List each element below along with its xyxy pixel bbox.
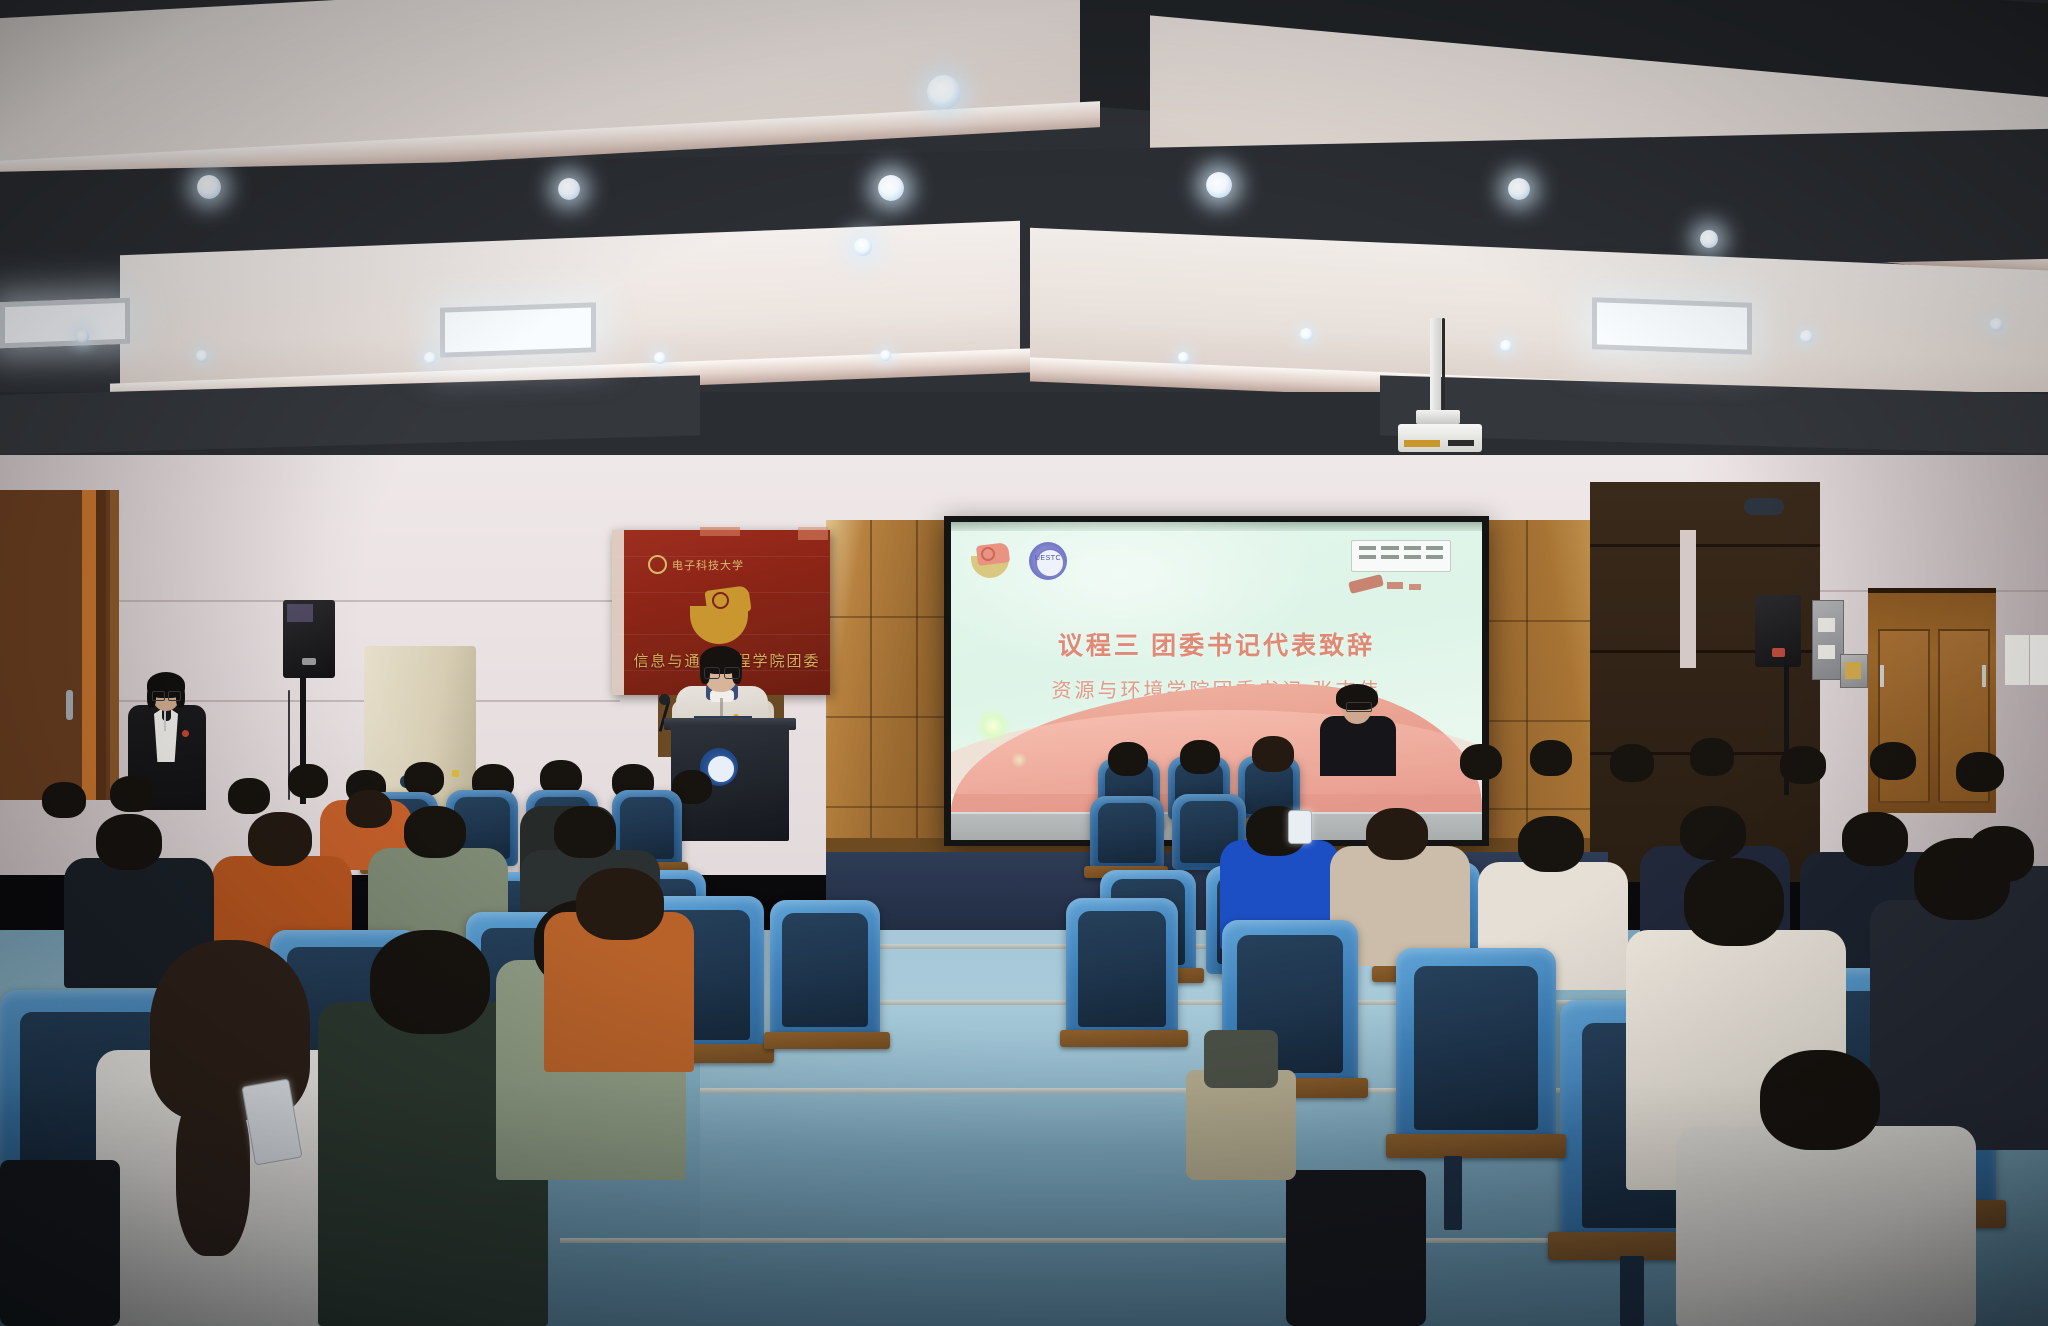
projector-lens-flare	[975, 708, 1011, 744]
audience-head	[42, 782, 86, 818]
loudspeaker-right-logo	[1772, 648, 1785, 657]
banner-university-name: 电子科技大学	[672, 557, 744, 573]
banner-tape	[700, 527, 740, 536]
loudspeaker-left-highlight	[287, 604, 313, 622]
downlight	[1990, 318, 2003, 331]
door-handle[interactable]	[1880, 665, 1884, 687]
audience-head	[1956, 752, 2004, 792]
air-conditioner-sticker	[452, 770, 459, 777]
audience-body	[1320, 716, 1396, 776]
staff-glasses-lens	[152, 691, 165, 701]
slide-decoration	[1387, 582, 1403, 589]
audience-head	[96, 814, 162, 870]
stage-wood-panel-right	[1480, 520, 1608, 850]
audience-head	[288, 764, 328, 798]
audience-head	[554, 806, 616, 858]
presenter-glasses-lens	[704, 667, 720, 679]
downlight	[558, 178, 580, 200]
banner-edge-strip	[612, 530, 624, 695]
audience-head	[1366, 808, 1428, 860]
audience-head	[1690, 738, 1734, 776]
notice-paper	[2030, 635, 2048, 685]
wall-thermostat[interactable]	[1744, 498, 1784, 515]
audience-head	[1780, 746, 1826, 784]
projector-cable	[1442, 318, 1445, 414]
backpack	[0, 1160, 120, 1326]
audience-head	[1518, 816, 1584, 872]
stage-wood-panel-left	[826, 520, 948, 850]
audience-head	[1760, 1050, 1880, 1150]
seat[interactable]	[770, 900, 880, 1040]
banner-university-mark: 电子科技大学	[648, 555, 778, 571]
electrical-panel-label	[1818, 618, 1835, 632]
slide-decoration	[1348, 574, 1384, 594]
window-mullion	[82, 490, 96, 800]
audience-head	[248, 812, 312, 866]
staff-glasses-lens	[168, 691, 181, 701]
audience-head	[1108, 742, 1148, 776]
auditorium-photo: 电子科技大学 信息与通信工程学院团委 UESTC	[0, 0, 2048, 1326]
banner-tape	[798, 527, 828, 540]
downlight	[654, 352, 666, 364]
seat[interactable]	[1066, 898, 1178, 1040]
downlight	[878, 175, 904, 201]
audience-head	[1680, 806, 1746, 860]
projector-lens-flare	[1011, 752, 1027, 768]
downlight	[1206, 172, 1232, 198]
projector-label	[1404, 440, 1440, 447]
audience-head	[1842, 812, 1908, 866]
seat[interactable]	[1396, 948, 1556, 1148]
downlight	[1500, 340, 1512, 352]
uestc-emblem-label: UESTC	[1029, 555, 1067, 562]
panel-light	[0, 298, 130, 349]
audience-head	[228, 778, 270, 814]
audience-head	[1914, 838, 2010, 920]
armrest	[1386, 1134, 1566, 1158]
notice-paper	[2005, 635, 2029, 685]
youth-league-emblem-icon	[969, 544, 1011, 578]
electrical-panel-label	[1818, 645, 1835, 659]
audience-head	[1530, 740, 1572, 776]
audience-head	[404, 806, 466, 858]
downlight	[1178, 352, 1189, 363]
audience-head	[1180, 740, 1220, 774]
window-handle[interactable]	[66, 690, 73, 720]
projector-mount-pole	[1430, 318, 1441, 410]
audience-head	[1460, 744, 1502, 780]
audience-head	[1610, 744, 1654, 782]
window-frame-post	[96, 490, 106, 800]
armrest	[1060, 1030, 1188, 1047]
audience-head	[370, 930, 490, 1034]
downlight	[1700, 230, 1718, 248]
panel-light	[1592, 297, 1752, 355]
downlight	[1300, 328, 1313, 341]
downlight	[880, 350, 891, 361]
youth-league-emblem-icon	[690, 588, 756, 644]
university-seal-icon	[648, 555, 667, 574]
slide-title: 议程三 团委书记代表致辞	[951, 626, 1482, 662]
seat[interactable]	[1090, 796, 1164, 870]
emblem-star	[712, 592, 729, 609]
audience-glasses	[1346, 702, 1372, 712]
downlight	[196, 350, 208, 362]
wall-light-slit	[1680, 530, 1696, 668]
microphone-icon	[659, 694, 670, 705]
downlight	[927, 75, 961, 109]
door-handle[interactable]	[1982, 665, 1986, 687]
audience-head	[1684, 858, 1784, 946]
panel-light	[440, 302, 596, 357]
downlight	[1800, 330, 1813, 343]
armrest	[764, 1032, 890, 1049]
slide-toolbar-overlay[interactable]	[1351, 540, 1451, 572]
seat-support	[1444, 1156, 1462, 1230]
smartphone[interactable]	[1288, 810, 1312, 844]
loudspeaker-left-logo	[302, 658, 316, 665]
control-box-label	[1845, 662, 1861, 679]
audience-ponytail	[176, 1086, 250, 1256]
seat-support	[1620, 1256, 1644, 1326]
slide-decoration	[1409, 584, 1421, 590]
downlight	[76, 330, 89, 343]
ceiling	[0, 0, 2048, 470]
audience-head	[576, 868, 664, 940]
projector-ports	[1448, 440, 1474, 446]
audience-body	[1676, 1126, 1976, 1326]
audience-head	[404, 762, 444, 796]
emblem-star	[981, 547, 995, 561]
downlight	[1508, 178, 1530, 200]
audience-body	[1870, 900, 2048, 1150]
audience-head	[1870, 742, 1916, 780]
audience-head	[346, 790, 392, 828]
staff-badge-pin	[182, 730, 189, 737]
uestc-emblem-inner	[1035, 548, 1065, 578]
projector-bracket	[1416, 410, 1460, 424]
audience-head	[1252, 736, 1294, 772]
backpack	[1204, 1030, 1278, 1088]
uestc-emblem-icon: UESTC	[1029, 542, 1067, 580]
downlight	[424, 352, 436, 364]
downlight	[197, 175, 221, 199]
audience-head	[110, 776, 154, 812]
backpack	[1286, 1170, 1426, 1326]
projector-body	[1398, 424, 1482, 452]
downlight	[854, 238, 872, 256]
presenter-glasses-lens	[724, 667, 740, 679]
